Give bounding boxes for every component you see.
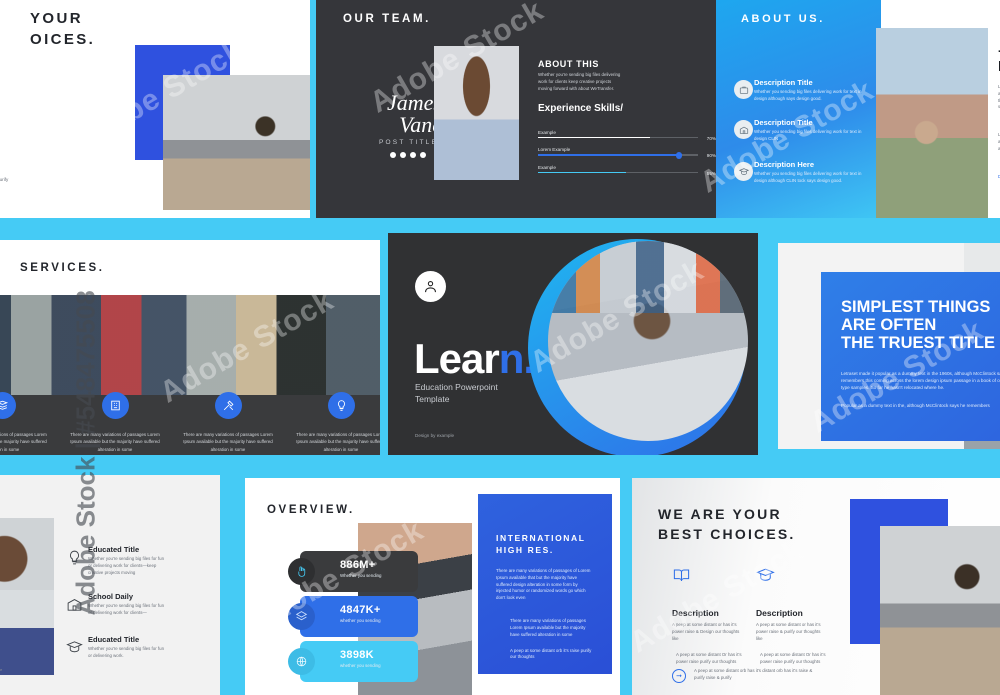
page-title: OUR TEAM. [343,13,431,25]
tools-icon [215,392,242,419]
graduation-cap-icon [756,572,775,589]
carousel-dots[interactable] [390,152,426,158]
layers-icon [288,603,315,630]
stat-caption: whether you sending [340,618,418,625]
about-body: Whether you're sending big files deliver… [538,72,623,92]
slide-deck-preview: YOUR OICES. Description A peep at some d… [0,0,1000,695]
choice-body: A peep at some distant or has it's power… [756,622,828,642]
about-item[interactable]: Description Title Whether you sending bi… [754,78,882,103]
about-item-heading: Description Here [754,160,882,169]
international-body-1: There are many variations of passages of… [496,568,592,602]
globe-icon [288,648,315,675]
school-icon [734,120,753,139]
page-title: ABOUT US. [741,13,825,25]
service-body: There are many variations of passages Lo… [0,431,56,453]
lightbulb-icon [328,392,355,419]
service-card[interactable]: There are many variations of passages Lo… [61,392,169,453]
about-blue-panel [716,0,881,218]
cover-credit: Design by example [415,433,454,438]
slide-credit: Design by example [0,668,2,672]
skill-slider-handle[interactable] [676,152,683,159]
skill-label: Example [538,130,698,135]
educated-heading: School Daily [88,592,216,601]
stat-card[interactable]: 886M+ Whether you sending [300,551,418,592]
lightbulb-icon [66,549,83,571]
briefcase-icon [734,80,753,99]
photo-student-with-book [0,518,54,675]
international-body-3: A peep at some distant orb it's raise pu… [510,648,592,662]
page-title: WE ARE YOUR BEST CHOICES. [658,504,796,544]
stat-card[interactable]: 4847K+ whether you sending [300,596,418,637]
about-heading: ABOUT THIS [538,59,599,69]
about-item[interactable]: Description Here Whether you sending big… [754,160,882,185]
educated-item[interactable]: Educated Title Whether you're sending bi… [64,545,216,576]
stat-value: 3898K [340,649,418,661]
choice-body: A peep at some distant or has it's power… [672,622,744,642]
skill-bar-track[interactable]: 70% [538,137,698,138]
educated-body: Whether you're sending big files for fun… [88,556,164,576]
photo-students-studying [548,241,748,441]
slide-best-choices-top[interactable]: YOUR OICES. Description A peep at some d… [0,0,310,218]
member-post-title: POST TITLE/ [352,139,442,146]
slide-services[interactable]: SERVICES. There are many variations of p… [0,240,380,455]
books-stack-icon [0,392,16,419]
educated-heading: Educated Title [88,635,216,644]
educated-body: Whether you're sending big files for fun… [88,646,164,660]
page-title: INTERNATIONAL HIGH RES. [496,532,596,556]
slide-our-team[interactable]: OUR TEAM. James Vane POST TITLE/ ABOUT T… [316,0,716,218]
service-card[interactable]: There are many variations of passages Lo… [174,392,282,453]
slide-cover-learn[interactable]: Learn. Education Powerpoint Template Des… [388,233,758,455]
choice-footer-text: A peep at some distant orb has it's dist… [694,668,814,682]
service-card[interactable]: There are many variations of passages Lo… [0,392,56,453]
slide-best-choices[interactable]: WE ARE YOUR BEST CHOICES. Description A … [632,478,1000,695]
skill-label: Example [538,165,698,170]
skill-row[interactable]: Example 55% [538,165,698,173]
page-title: OVERVIEW. [267,504,355,516]
slide-simplest-things[interactable]: SIMPLEST THINGS ARE OFTEN THE TRUEST TIT… [778,243,1000,449]
slide-footer-text: some distant orb has it's distant orb ra… [0,176,10,183]
slide-educated-titles[interactable]: Design by example Educated Title Whether… [0,475,220,695]
about-item-body: Whether you sending big files delivering… [754,129,872,143]
cover-title: Learn. [414,338,534,380]
educated-item[interactable]: Educated Title Whether you're sending bi… [64,635,216,660]
stat-value: 886M+ [340,559,418,571]
about-item-heading: Description Title [754,78,882,87]
educated-body: Whether you're sending big files for fun… [88,603,164,617]
slide-about-us[interactable]: ABOUT US. Description Title Whether you … [716,0,1000,218]
page-title: SERVICES. [20,262,105,274]
cover-subtitle: Education Powerpoint Template [415,381,525,405]
about-item-body: Whether you sending big files delivering… [754,171,872,185]
page-title: YOUR OICES. [30,8,95,50]
skill-label: Lorem Example [538,147,698,152]
member-name: James Vane [352,92,442,136]
service-body: There are many variations of passages Lo… [287,431,380,453]
about-item-body: Whether you sending big files delivering… [754,89,872,103]
about-item-heading: Description Title [754,118,882,127]
skill-bar-track[interactable]: 90% [538,154,698,155]
graduation-cap-icon [734,162,753,181]
skill-value: 90% [707,153,716,158]
slide-international-high-res[interactable]: INTERNATIONAL HIGH RES. There are many v… [472,478,618,695]
educated-heading: Educated Title [88,545,216,554]
service-body: There are many variations of passages Lo… [61,431,169,453]
graduation-cap-icon [66,639,83,661]
simplest-body-2: Popular as a dummy text in the, although… [841,402,1000,409]
skill-bar-track[interactable]: 55% [538,172,698,173]
choice-quote: A peep at some distant Or has it's power… [760,652,832,666]
service-card[interactable]: There are many variations of passages Lo… [287,392,380,453]
service-body: There are many variations of passages Lo… [174,431,282,453]
skill-value: 55% [707,171,716,176]
experience-heading: Experience Skills/ [538,103,623,115]
stat-value: 4847K+ [340,604,418,616]
simplest-body-1: Letraset made it popular as a dummy text… [841,370,1000,391]
photo-woman-with-laptop [880,526,1000,695]
choice-footer[interactable]: ➞ A peep at some distant orb has it's di… [672,668,832,682]
photo-students-on-bench [0,295,380,395]
about-side-panel: +36 Lite Letraset made it popular as a d… [988,26,1000,204]
stat-caption: Whether you sending [340,573,418,580]
open-book-icon [672,572,691,589]
skill-row[interactable]: Example 70% [538,130,698,138]
skill-row[interactable]: Lorem Example 90% [538,147,698,155]
international-blue-panel: INTERNATIONAL HIGH RES. There are many v… [478,494,612,674]
photo-team-member-portrait [434,46,519,180]
arrow-right-circle-icon[interactable]: ➞ [672,669,686,683]
building-icon [102,392,129,419]
choice-quote: A peep at some distant Or has it's power… [676,652,748,666]
stat-caption: whether you sending [340,663,418,670]
skills-list: Example 70% Lorem Example 90% Example [538,130,698,182]
student-avatar-icon [415,271,446,302]
about-item[interactable]: Description Title Whether you sending bi… [754,118,882,143]
stat-card[interactable]: 3898K whether you sending [300,641,418,682]
photo-woman-with-laptop [163,75,310,210]
educated-item[interactable]: School Daily Whether you're sending big … [64,592,216,617]
photo-student-with-laptop [876,28,988,218]
page-title: SIMPLEST THINGS ARE OFTEN THE TRUEST TIT… [841,298,1000,352]
international-body-2: There are many variations of passages Lo… [510,618,592,638]
school-icon [66,596,83,618]
simplest-blue-card: SIMPLEST THINGS ARE OFTEN THE TRUEST TIT… [821,272,1000,441]
skill-value: 70% [707,136,716,141]
hand-click-icon [288,558,315,585]
